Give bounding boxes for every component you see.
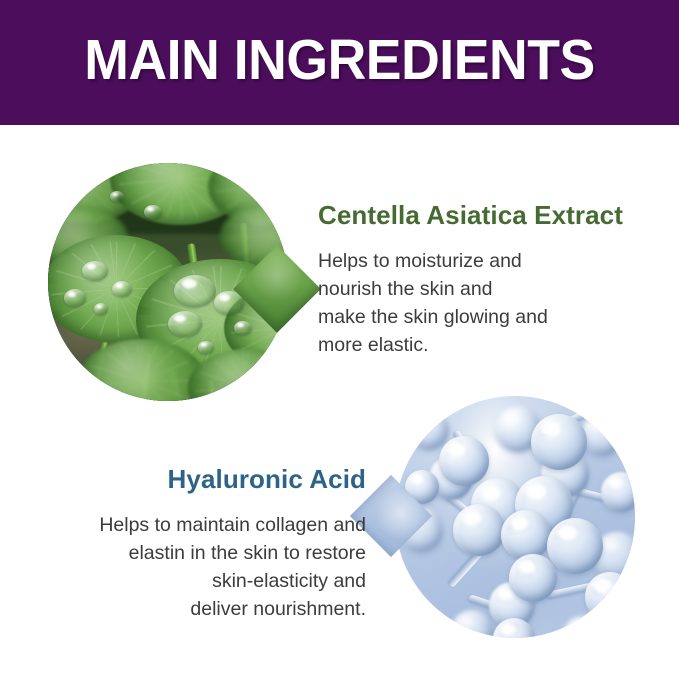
hyaluronic-description: Helps to maintain collagen and elastin i…	[10, 511, 366, 623]
water-droplet	[174, 275, 216, 307]
centella-text-block: Centella Asiatica Extract Helps to moist…	[318, 200, 668, 359]
molecule-sphere	[453, 504, 505, 556]
molecule-sphere	[547, 518, 603, 574]
water-droplet	[112, 281, 132, 297]
molecule-sphere	[563, 616, 601, 638]
water-droplet	[110, 191, 124, 202]
water-droplet	[64, 289, 86, 307]
page-title: MAIN INGREDIENTS	[84, 32, 594, 93]
hyaluronic-text-block: Hyaluronic Acid Helps to maintain collag…	[10, 464, 366, 623]
water-droplet	[234, 321, 252, 335]
water-droplet	[168, 311, 202, 337]
water-droplet	[198, 341, 214, 354]
centella-description: Helps to moisturize and nourish the skin…	[318, 247, 668, 359]
molecule-sphere	[581, 414, 623, 456]
molecule-sphere	[501, 510, 551, 560]
molecule-sphere	[451, 610, 493, 638]
hyaluronic-heading: Hyaluronic Acid	[10, 464, 366, 495]
water-droplet	[82, 261, 108, 281]
centella-heading: Centella Asiatica Extract	[318, 200, 668, 231]
molecule-sphere	[409, 410, 449, 450]
water-droplet	[144, 205, 162, 219]
molecule-sphere	[585, 572, 635, 622]
ingredients-infographic: MAIN INGREDIENTS	[0, 0, 679, 679]
header-banner: MAIN INGREDIENTS	[0, 0, 679, 125]
molecule-sphere	[601, 472, 635, 512]
molecule-sphere	[439, 436, 489, 486]
water-droplet	[94, 303, 108, 315]
molecule-sphere	[509, 554, 557, 602]
molecule-sphere	[531, 414, 587, 470]
